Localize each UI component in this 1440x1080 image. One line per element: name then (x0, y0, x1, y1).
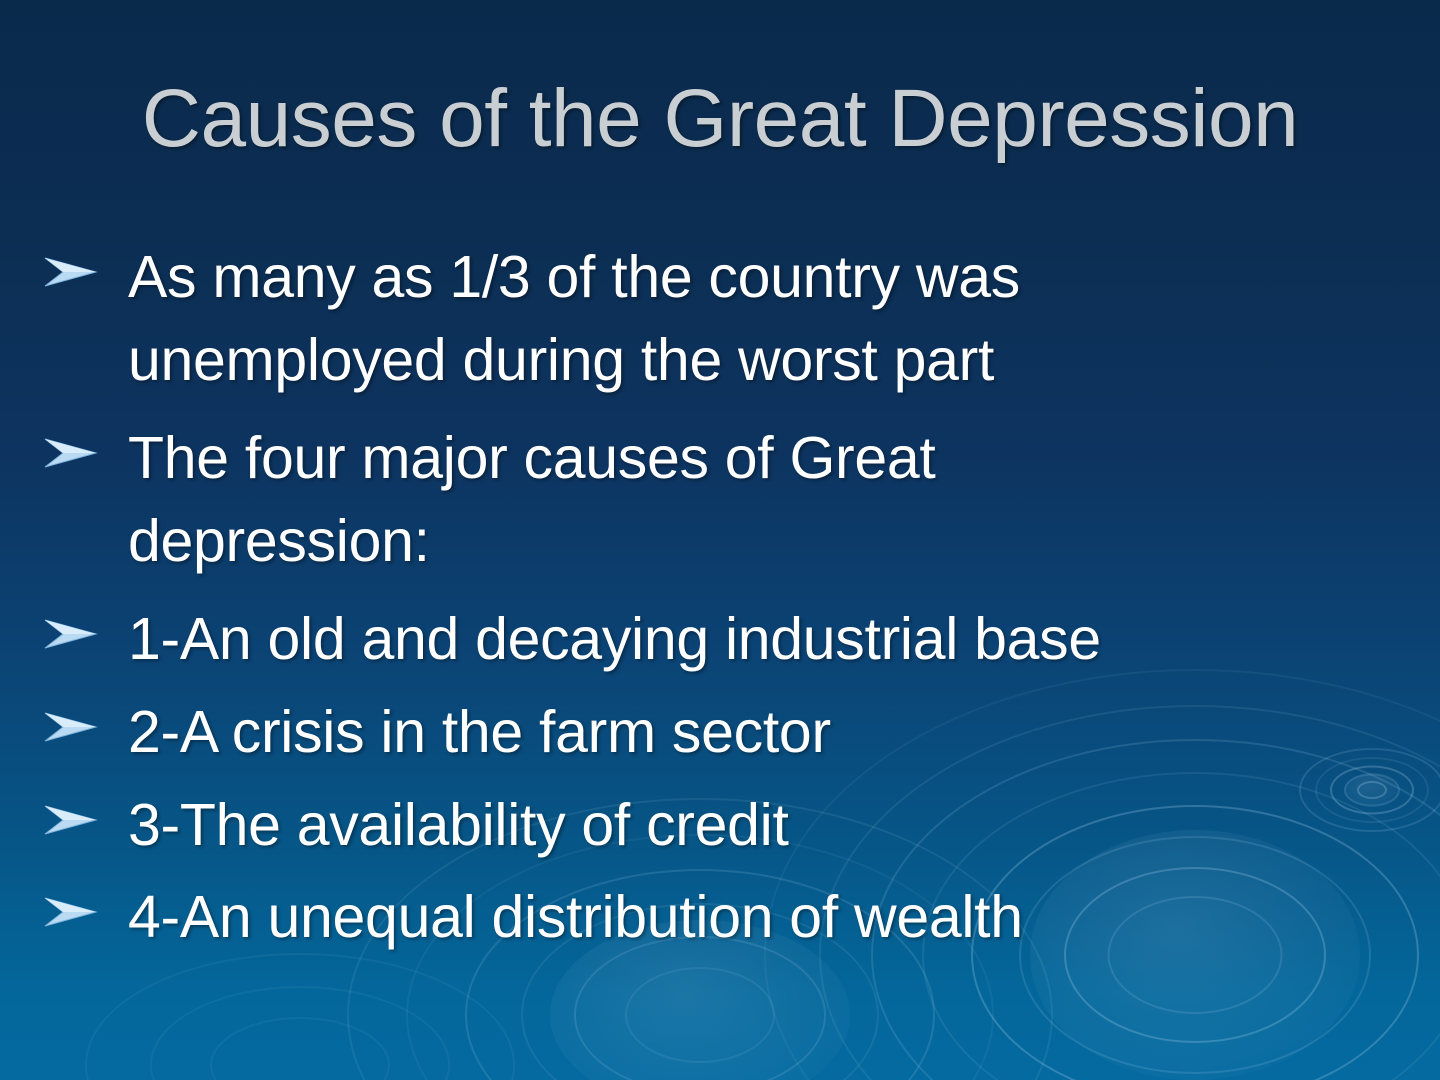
slide-title: Causes of the Great Depression (0, 78, 1440, 160)
list-item: 2-A crisis in the farm sector (44, 691, 1424, 774)
arrowhead-bullet-icon (44, 691, 128, 757)
list-item-label: 3-The availability of credit (128, 784, 1288, 867)
list-item: 4-An unequal distribution of wealth (44, 876, 1424, 959)
arrowhead-bullet-icon (44, 236, 128, 302)
list-item: As many as 1/3 of the country was unempl… (44, 236, 1424, 401)
list-item-label: 1-An old and decaying industrial base (128, 598, 1288, 681)
presentation-slide: Causes of the Great Depression As many a… (0, 0, 1440, 1080)
list-item: 3-The availability of credit (44, 784, 1424, 867)
arrowhead-bullet-icon (44, 598, 128, 664)
list-item-label: 4-An unequal distribution of wealth (128, 876, 1288, 959)
arrowhead-bullet-icon (44, 784, 128, 850)
arrowhead-bullet-icon (44, 417, 128, 483)
list-item-label: The four major causes of Great depressio… (128, 417, 1218, 582)
list-item-label: 2-A crisis in the farm sector (128, 691, 1288, 774)
list-item: 1-An old and decaying industrial base (44, 598, 1424, 681)
list-item: The four major causes of Great depressio… (44, 417, 1424, 582)
arrowhead-bullet-icon (44, 876, 128, 942)
list-item-label: As many as 1/3 of the country was unempl… (128, 236, 1218, 401)
slide-body-bullet-list: As many as 1/3 of the country was unempl… (44, 236, 1424, 969)
